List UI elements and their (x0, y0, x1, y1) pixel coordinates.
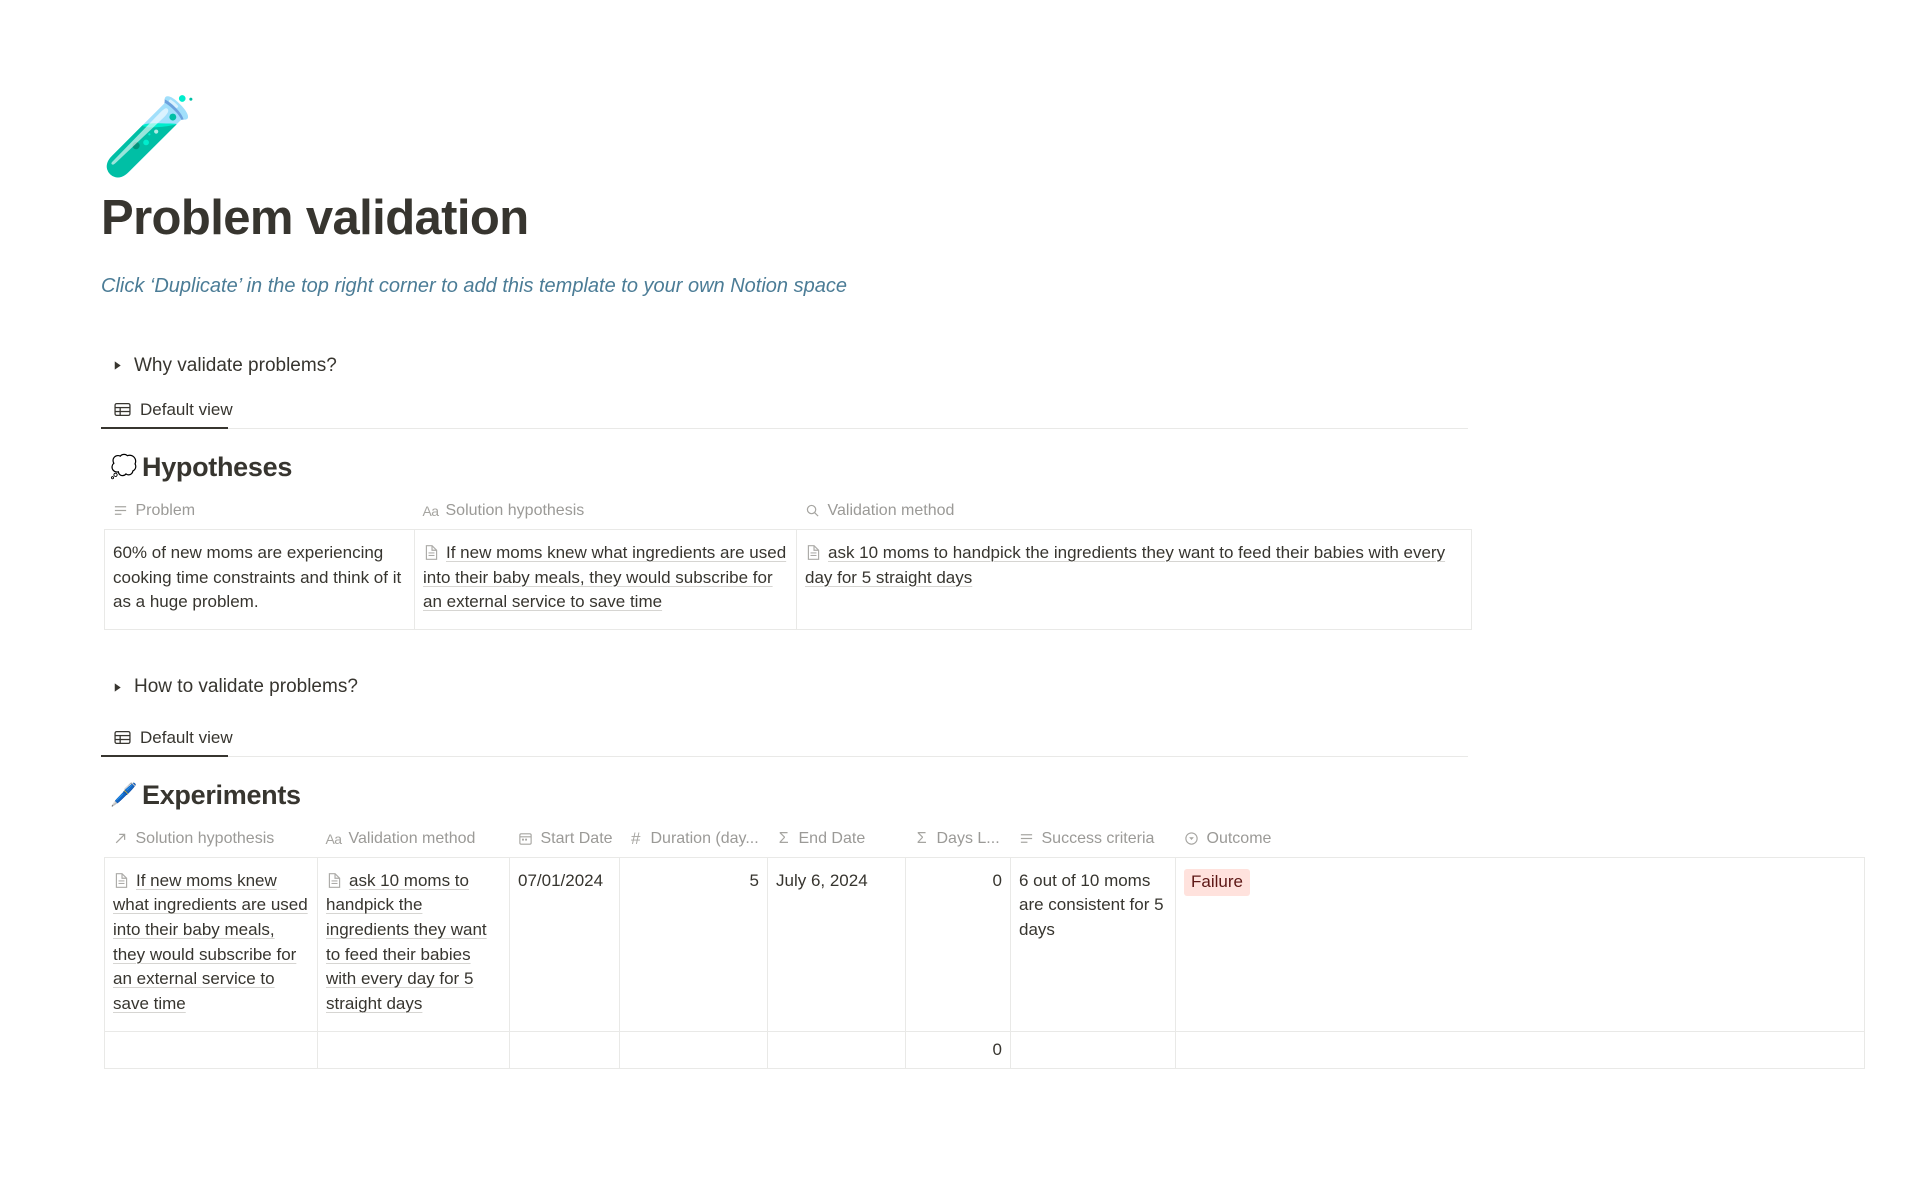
cell-days-left[interactable]: 0 (906, 1031, 1011, 1069)
column-header-problem[interactable]: Problem (105, 493, 415, 530)
cell-solution-hypothesis[interactable] (105, 1031, 318, 1069)
page-doc-icon (423, 544, 440, 561)
cell-validation-method[interactable]: ask 10 moms to handpick the ingredients … (318, 857, 510, 1031)
toggle-label: Why validate problems? (134, 354, 337, 379)
text-lines-icon (113, 503, 129, 519)
column-header-solution-hypothesis[interactable]: Aa Solution hypothesis (415, 493, 797, 530)
table-icon (113, 729, 131, 747)
title-aa-icon: Aa (326, 831, 342, 847)
table-header-row: Problem Aa Solution hypothesis (105, 493, 1472, 530)
table-row[interactable]: 0 (105, 1031, 1865, 1069)
thought-balloon-emoji: 💭 (110, 456, 134, 478)
database-title-text: Experiments (142, 780, 301, 811)
column-header-solution-hypothesis[interactable]: Solution hypothesis (105, 821, 318, 858)
experiments-view-tabs: Default view (101, 728, 1468, 757)
status-badge: Failure (1184, 869, 1250, 896)
column-header-label: Success criteria (1042, 830, 1155, 848)
view-divider (101, 428, 1468, 429)
chevron-right-icon[interactable] (110, 359, 124, 373)
tab-default-view-experiments[interactable]: Default view (107, 728, 239, 756)
cell-days-left[interactable]: 0 (906, 857, 1011, 1031)
column-header-outcome[interactable]: Outcome (1176, 821, 1865, 858)
search-icon (805, 503, 821, 519)
cell-solution-hypothesis[interactable]: If new moms knew what ingredients are us… (105, 857, 318, 1031)
column-header-label: Solution hypothesis (136, 830, 275, 848)
chevron-right-icon[interactable] (110, 681, 124, 695)
view-divider (101, 756, 1468, 757)
cell-success-criteria[interactable]: 6 out of 10 moms are consistent for 5 da… (1011, 857, 1176, 1031)
toggle-how-to-validate-problems[interactable]: How to validate problems? (101, 674, 1920, 702)
page-link-text[interactable]: If new moms knew what ingredients are us… (113, 871, 308, 1013)
cell-problem[interactable]: 60% of new moms are experiencing cooking… (105, 529, 415, 629)
active-tab-underline (101, 755, 228, 757)
cell-success-criteria[interactable] (1011, 1031, 1176, 1069)
column-header-validation-method[interactable]: Validation method (797, 493, 1472, 530)
cell-outcome[interactable] (1176, 1031, 1865, 1069)
toggle-label: How to validate problems? (134, 675, 358, 700)
text-lines-icon (1019, 831, 1035, 847)
column-header-label: Validation method (828, 502, 955, 520)
cell-validation-method[interactable]: ask 10 moms to handpick the ingredients … (797, 529, 1472, 629)
database-title-text: Hypotheses (142, 452, 292, 483)
page-doc-icon (326, 872, 343, 889)
page-title: Problem validation (101, 192, 1920, 246)
column-header-label: Outcome (1207, 830, 1272, 848)
column-header-label: Problem (136, 502, 196, 520)
formula-sigma-icon: Σ (776, 831, 792, 847)
toggle-why-validate-problems[interactable]: Why validate problems? (101, 352, 1920, 380)
number-hash-icon: # (628, 831, 644, 847)
page-link-text[interactable]: If new moms knew what ingredients are us… (423, 543, 786, 611)
column-header-end-date[interactable]: Σ End Date (768, 821, 906, 858)
column-header-success-criteria[interactable]: Success criteria (1011, 821, 1176, 858)
experiments-database-title[interactable]: 🖊️ Experiments (110, 780, 1920, 811)
column-header-validation-method[interactable]: Aa Validation method (318, 821, 510, 858)
column-header-days-left[interactable]: Σ Days L... (906, 821, 1011, 858)
cell-duration-days[interactable]: 5 (620, 857, 768, 1031)
cell-validation-method[interactable] (318, 1031, 510, 1069)
page-link-text[interactable]: ask 10 moms to handpick the ingredients … (326, 871, 487, 1013)
column-header-duration-days[interactable]: # Duration (day... (620, 821, 768, 858)
hypotheses-table: Problem Aa Solution hypothesis (104, 493, 1472, 630)
hypotheses-view-tabs: Default view (101, 400, 1468, 429)
cell-outcome[interactable]: Failure (1176, 857, 1865, 1031)
calendar-icon (518, 831, 534, 847)
column-header-label: Duration (day... (651, 830, 759, 848)
column-header-label: End Date (799, 830, 866, 848)
column-header-label: Days L... (937, 830, 1000, 848)
page-content: 🧪 Problem validation Click ‘Duplicate’ i… (0, 0, 1920, 1069)
page-subtitle: Click ‘Duplicate’ in the top right corne… (101, 272, 1920, 300)
column-header-label: Solution hypothesis (446, 502, 585, 520)
cell-end-date[interactable]: July 6, 2024 (768, 857, 906, 1031)
title-aa-icon: Aa (423, 503, 439, 519)
cell-end-date[interactable] (768, 1031, 906, 1069)
table-header-row: Solution hypothesis Aa Validation method (105, 821, 1865, 858)
view-tab-label: Default view (140, 400, 233, 420)
cell-solution-hypothesis[interactable]: If new moms knew what ingredients are us… (415, 529, 797, 629)
cell-duration-days[interactable] (620, 1031, 768, 1069)
column-header-label: Start Date (541, 830, 613, 848)
pen-emoji: 🖊️ (110, 784, 134, 806)
page-doc-icon (805, 544, 822, 561)
page-doc-icon (113, 872, 130, 889)
page-link-text[interactable]: ask 10 moms to handpick the ingredients … (805, 543, 1445, 587)
tab-default-view-hypotheses[interactable]: Default view (107, 400, 239, 428)
view-tab-label: Default view (140, 728, 233, 748)
test-tube-emoji: 🧪 (101, 88, 197, 184)
cell-start-date[interactable] (510, 1031, 620, 1069)
hypotheses-database-title[interactable]: 💭 Hypotheses (110, 452, 1920, 483)
notion-page: 🧪 Problem validation Click ‘Duplicate’ i… (0, 0, 1920, 1199)
relation-arrow-icon (113, 831, 129, 847)
table-row[interactable]: 60% of new moms are experiencing cooking… (105, 529, 1472, 629)
cell-start-date[interactable]: 07/01/2024 (510, 857, 620, 1031)
active-tab-underline (101, 427, 228, 429)
column-header-start-date[interactable]: Start Date (510, 821, 620, 858)
column-header-label: Validation method (349, 830, 476, 848)
formula-sigma-icon: Σ (914, 831, 930, 847)
experiments-table: Solution hypothesis Aa Validation method (104, 821, 1865, 1069)
table-row[interactable]: If new moms knew what ingredients are us… (105, 857, 1865, 1031)
table-icon (113, 401, 131, 419)
select-circle-icon (1184, 831, 1200, 847)
